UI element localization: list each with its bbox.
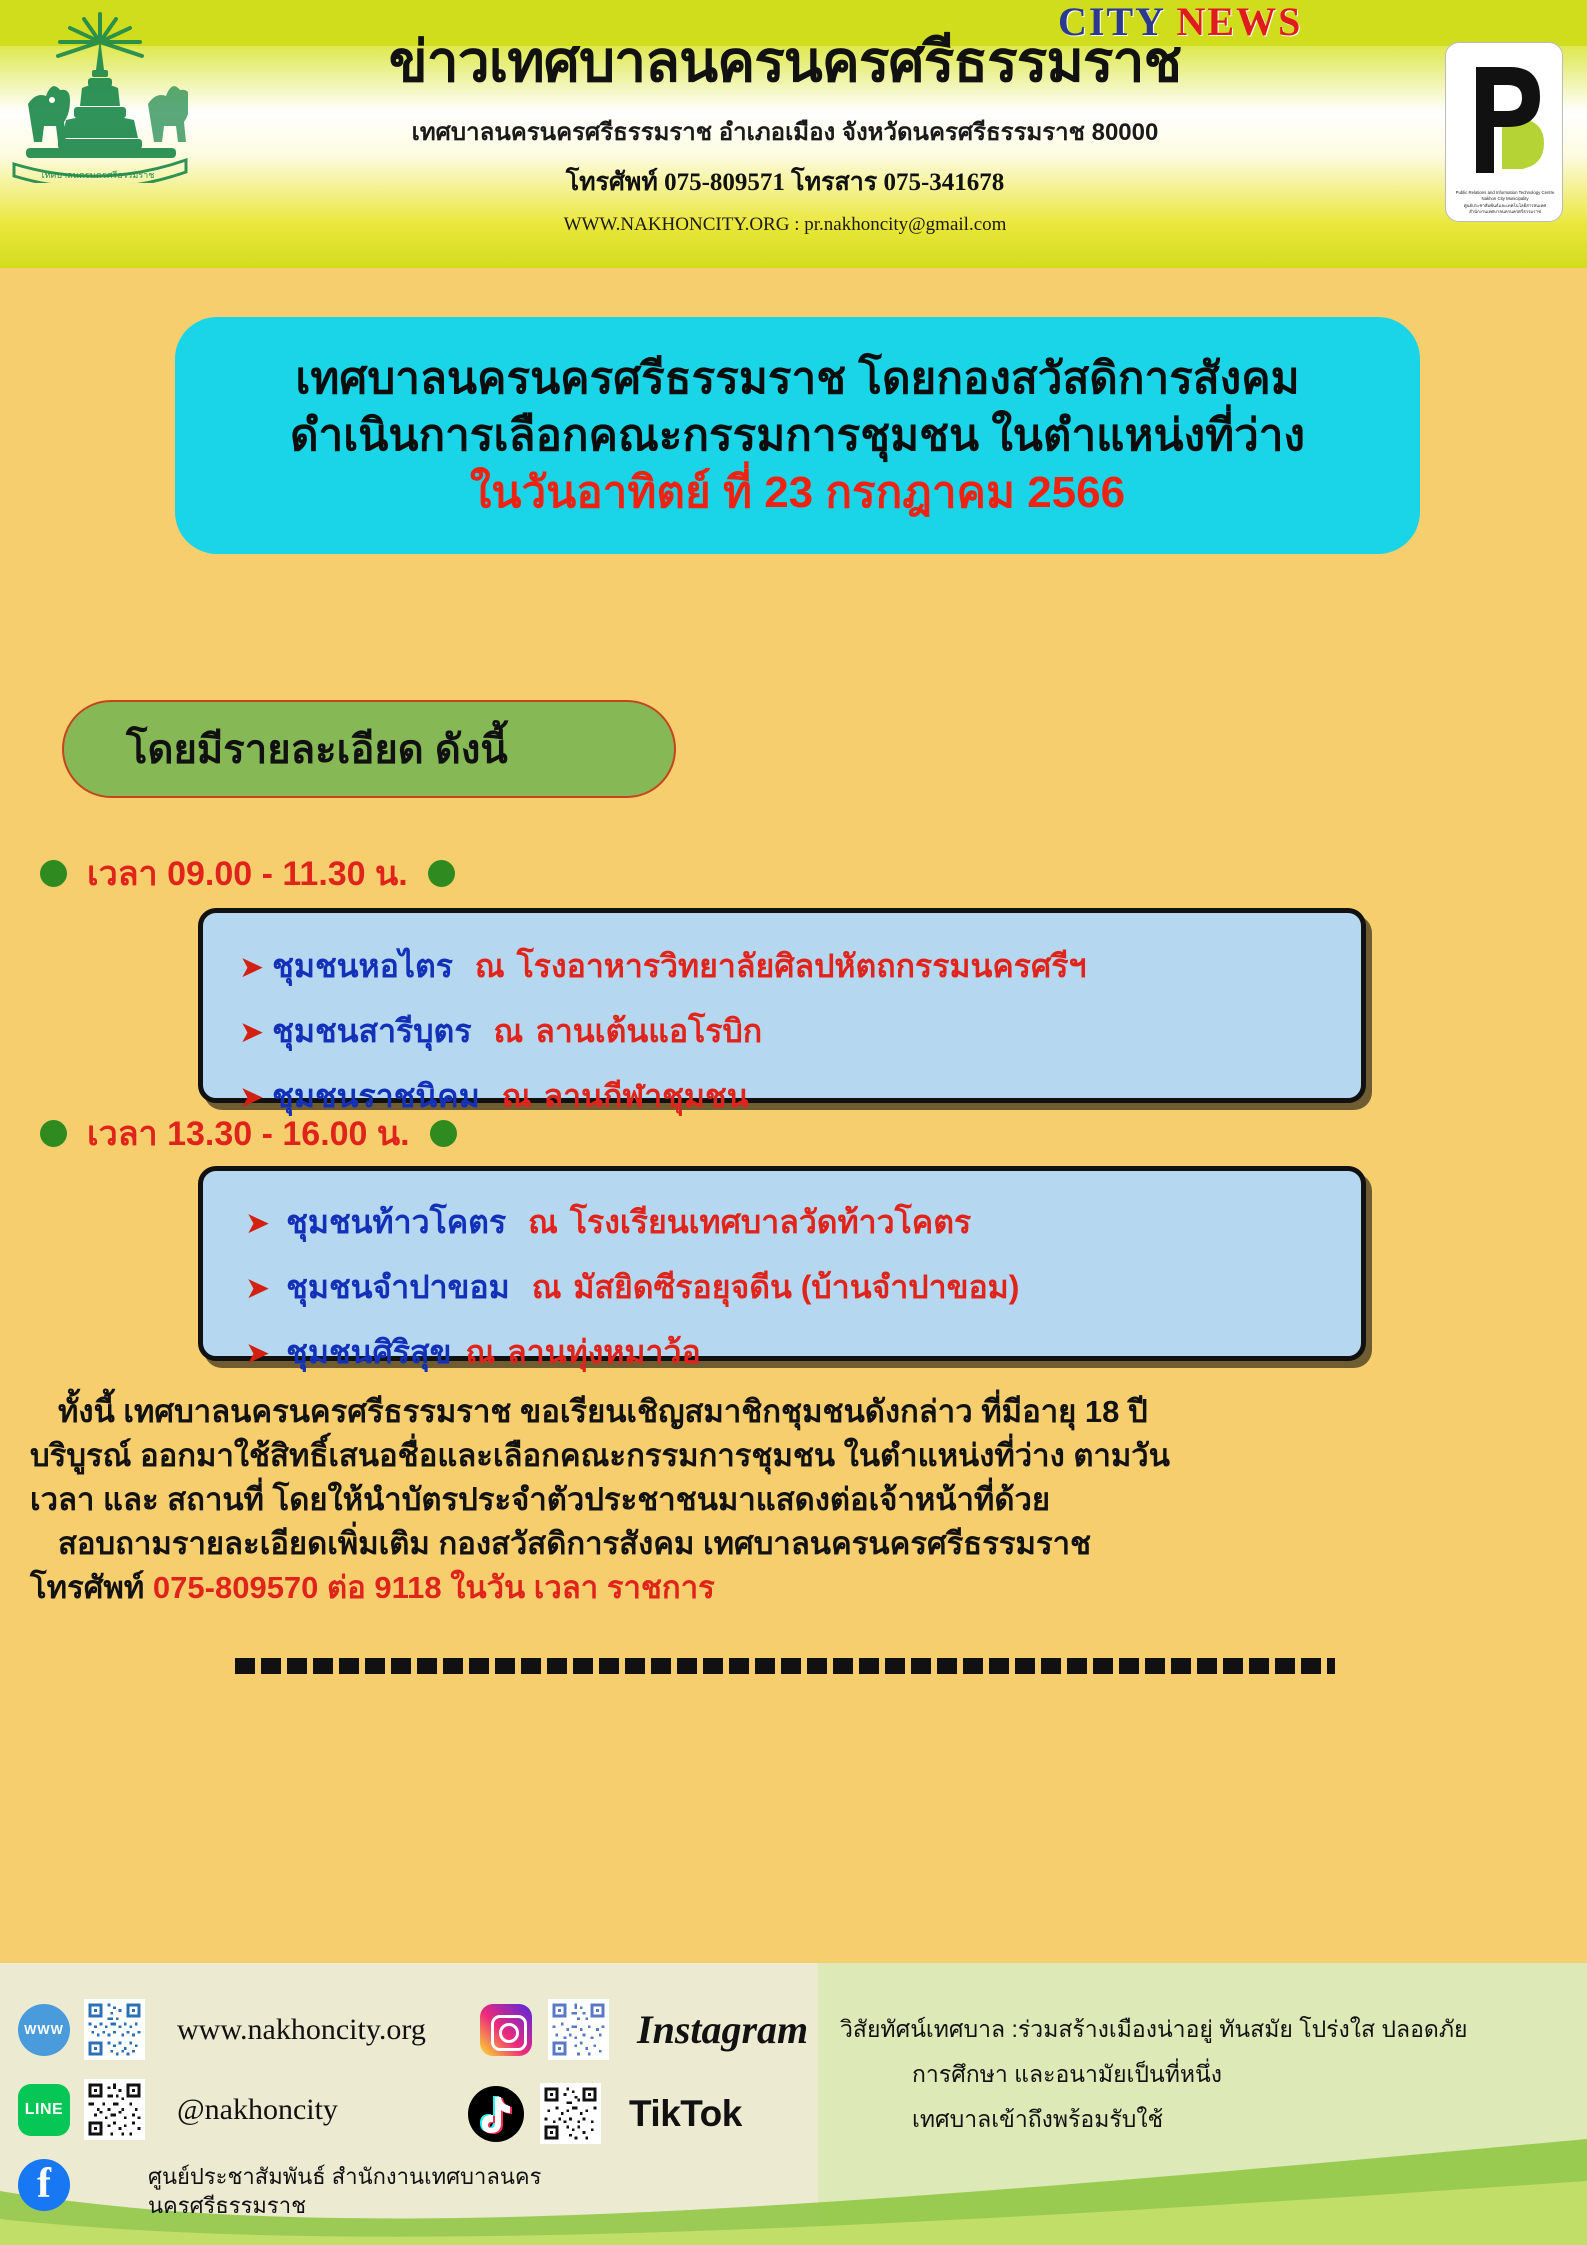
pr-badge-caption: Public Relations and Information Technol…	[1446, 190, 1563, 215]
www-logo-text: WWW	[24, 2022, 64, 2037]
details-pill: โดยมีรายละเอียด ดังนี้	[62, 700, 676, 798]
qr-code-line	[84, 2079, 145, 2140]
instagram-label[interactable]: Instagram	[637, 2006, 808, 2053]
list-item: ➤ ชุมชนหอไตร ณ โรงอาหารวิทยาลัยศิลปหัตถก…	[239, 941, 1361, 992]
list-item: ➤ ชุมชนศิริสุข ณ ลานทุ่งหมาว้อ	[245, 1327, 1361, 1378]
facebook-icon-wrap[interactable]: f	[18, 2159, 70, 2211]
vision-line-2: การศึกษา และอนามัยเป็นที่หนึ่ง	[840, 2052, 1570, 2097]
venue-name: ลานทุ่งหมาว้อ	[507, 1327, 701, 1378]
header-text-block: ข่าวเทศบาลนครนครศรีธรรมราช เทศบาลนครนครศ…	[190, 30, 1380, 236]
office-hours-note: ในวัน เวลา ราชการ	[450, 1570, 714, 1605]
paragraph-line-4: สอบถามรายละเอียดเพิ่มเติม กองสวัสดิการสั…	[30, 1522, 1560, 1566]
footer-instagram-row[interactable]: Instagram	[480, 1999, 808, 2060]
header-title: ข่าวเทศบาลนครนครศรีธรรมราช	[190, 30, 1380, 96]
paragraph-line-5: โทรศัพท์ 075-809570 ต่อ 9118 ในวัน เวลา …	[30, 1566, 1560, 1610]
tiktok-icon	[468, 2086, 524, 2142]
phone-label: โทรศัพท์	[30, 1570, 144, 1605]
qr-code-tiktok	[540, 2083, 601, 2144]
header-web-email: WWW.NAKHONCITY.ORG : pr.nakhoncity@gmail…	[190, 214, 1380, 236]
announcement-line-1: เทศบาลนครนครศรีธรรมราช โดยกองสวัสดิการสั…	[295, 350, 1299, 407]
qr-code-instagram	[548, 1999, 609, 2060]
at-marker: ณ	[528, 1197, 558, 1248]
arrow-right-icon: ➤	[245, 1209, 270, 1239]
vision-line-3: เทศบาลเข้าถึงพร้อมรับใช้	[840, 2097, 1570, 2142]
venue-name: มัสยิดซีรอยุจดีน (บ้านจำปาขอม)	[573, 1262, 1019, 1313]
pr-caption-th1: ศูนย์ประชาสัมพันธ์และเทคโนโลยีสารสนเทศ	[1446, 203, 1563, 209]
pr-center-line-2: นครศรีธรรมราช	[148, 2192, 541, 2221]
tiktok-label[interactable]: TikTok	[629, 2093, 742, 2135]
paragraph-line-3: เวลา และ สถานที่ โดยให้นำบัตรประจำตัวประ…	[30, 1478, 1560, 1522]
community-name: ชุมชนศิริสุข	[286, 1327, 451, 1378]
venue-name: โรงอาหารวิทยาลัยศิลปหัตถกรรมนครศรีฯ	[517, 941, 1087, 992]
at-marker: ณ	[475, 941, 505, 992]
arrow-right-icon: ➤	[239, 953, 264, 983]
bullet-dot-icon	[428, 860, 455, 887]
page-footer: WWW	[0, 1963, 1587, 2245]
session-1-time-label: เวลา 09.00 - 11.30 น.	[87, 846, 408, 900]
details-pill-label: โดยมีรายละเอียด ดังนี้	[126, 717, 508, 781]
announcement-box: เทศบาลนครนครศรีธรรมราช โดยกองสวัสดิการสั…	[175, 317, 1420, 554]
venue-name: ลานกีฬาชุมชน	[543, 1071, 748, 1122]
community-name: ชุมชนหอไตร	[272, 941, 453, 992]
venue-name: ลานเต้นแอโรบิก	[535, 1006, 762, 1057]
session-2-time-row: เวลา 13.30 - 16.00 น.	[40, 1106, 457, 1160]
header-address: เทศบาลนครนครศรีธรรมราช อำเภอเมือง จังหวั…	[190, 112, 1380, 151]
bullet-dot-icon	[40, 860, 67, 887]
announcement-line-3: ในวันอาทิตย์ ที่ 23 กรกฎาคม 2566	[470, 464, 1125, 521]
pr-center-caption: ศูนย์ประชาสัมพันธ์ สำนักงานเทศบาลนคร นคร…	[148, 2163, 541, 2220]
at-marker: ณ	[494, 1006, 524, 1057]
announcement-line-2: ดำเนินการเลือกคณะกรรมการชุมชน ในตำแหน่งท…	[290, 407, 1305, 464]
at-marker: ณ	[465, 1327, 495, 1378]
qr-code-website	[84, 1999, 145, 2060]
vision-statement: วิสัยทัศน์เทศบาล :ร่วมสร้างเมืองน่าอยู่ …	[840, 2007, 1570, 2142]
line-icon: LINE	[18, 2084, 70, 2136]
paragraph-line-1: ทั้งนี้ เทศบาลนครนครศรีธรรมราช ขอเรียนเช…	[30, 1390, 1560, 1434]
www-globe-icon: WWW	[18, 2004, 70, 2056]
pr-caption-th2: สำนักงานเทศบาลนครนครศรีธรรมราช	[1446, 209, 1563, 215]
facebook-icon: f	[18, 2159, 70, 2211]
website-url[interactable]: www.nakhoncity.org	[177, 2013, 426, 2047]
session-2-list-box: ➤ ชุมชนท้าวโคตร ณ โรงเรียนเทศบาลวัดท้าวโ…	[198, 1166, 1366, 1361]
line-id[interactable]: @nakhoncity	[177, 2093, 338, 2127]
list-item: ➤ ชุมชนสารีบุตร ณ ลานเต้นแอโรบิก	[239, 1006, 1361, 1057]
header-phone: โทรศัพท์ 075-809571 โทรสาร 075-341678	[190, 162, 1380, 202]
pr-center-line-1: ศูนย์ประชาสัมพันธ์ สำนักงานเทศบาลนคร	[148, 2163, 541, 2192]
community-name: ชุมชนสารีบุตร	[272, 1006, 471, 1057]
arrow-right-icon: ➤	[245, 1339, 270, 1369]
venue-name: โรงเรียนเทศบาลวัดท้าวโคตร	[570, 1197, 971, 1248]
session-1-time-row: เวลา 09.00 - 11.30 น.	[40, 846, 455, 900]
body-paragraph: ทั้งนี้ เทศบาลนครนครศรีธรรมราช ขอเรียนเช…	[30, 1390, 1560, 1610]
list-item: ➤ ชุมชนจำปาขอม ณ มัสยิดซีรอยุจดีน (บ้านจ…	[245, 1262, 1361, 1313]
community-name: ชุมชนจำปาขอม	[286, 1262, 510, 1313]
footer-website-row[interactable]: WWW	[18, 1999, 426, 2060]
community-name: ชุมชนท้าวโคตร	[286, 1197, 506, 1248]
footer-line-row[interactable]: LINE	[18, 2079, 338, 2140]
list-item: ➤ ชุมชนท้าวโคตร ณ โรงเรียนเทศบาลวัดท้าวโ…	[245, 1197, 1361, 1248]
session-2-time-label: เวลา 13.30 - 16.00 น.	[87, 1106, 410, 1160]
phone-number: 075-809570 ต่อ 9118	[153, 1570, 442, 1605]
vision-line-1: วิสัยทัศน์เทศบาล :ร่วมสร้างเมืองน่าอยู่ …	[840, 2007, 1570, 2052]
page-header: CITY NEWS	[0, 0, 1587, 268]
arrow-right-icon: ➤	[245, 1274, 270, 1304]
arrow-right-icon: ➤	[239, 1018, 264, 1048]
poster-body: เทศบาลนครนครศรีธรรมราช โดยกองสวัสดิการสั…	[0, 268, 1587, 1963]
bullet-dot-icon	[40, 1120, 67, 1147]
bullet-dot-icon	[430, 1120, 457, 1147]
footer-tiktok-row[interactable]: TikTok	[468, 2083, 742, 2144]
instagram-icon	[480, 2004, 532, 2056]
svg-text:เทศบาลนครนครศรีธรรมราช: เทศบาลนครนครศรีธรรมราช	[42, 170, 155, 180]
pr-center-badge: Public Relations and Information Technol…	[1445, 42, 1563, 222]
at-marker: ณ	[502, 1071, 532, 1122]
dashed-divider	[235, 1658, 1335, 1674]
line-logo-text: LINE	[25, 2101, 63, 2119]
at-marker: ณ	[532, 1262, 562, 1313]
facebook-logo-text: f	[37, 2166, 51, 2204]
session-1-list-box: ➤ ชุมชนหอไตร ณ โรงอาหารวิทยาลัยศิลปหัตถก…	[198, 908, 1366, 1103]
paragraph-line-2: บริบูรณ์ ออกมาใช้สิทธิ์เสนอชื่อและเลือกค…	[30, 1434, 1560, 1478]
municipal-emblem-icon: เทศบาลนครนครศรีธรรมราช	[8, 8, 188, 183]
